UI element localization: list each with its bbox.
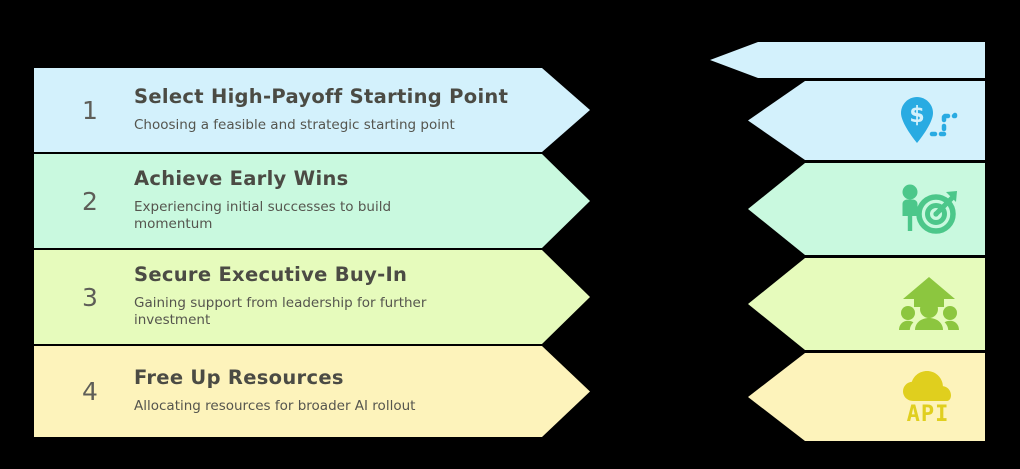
step-4-text: Free Up Resources Allocating resources f… [134,367,590,416]
step-3-text: Secure Executive Buy-In Gaining support … [134,264,590,330]
cloud-api-icon: API [899,371,959,423]
icon-band-1[interactable]: $ [700,81,985,160]
step-4-title: Free Up Resources [134,367,520,389]
step-4-description: Allocating resources for broader AI roll… [134,398,464,416]
top-cap-band [700,42,985,78]
person-target-arrow-icon [897,183,959,235]
step-3-title: Secure Executive Buy-In [134,264,520,286]
icon-band-3[interactable] [700,258,985,350]
step-1-number: 1 [46,98,134,123]
step-1-description: Choosing a feasible and strategic starti… [134,117,464,135]
step-3-number: 3 [46,285,134,310]
step-2-description: Experiencing initial successes to build … [134,199,434,235]
infographic-canvas: 1 Select High-Payoff Starting Point Choo… [0,0,1020,469]
process-step-3[interactable]: 3 Secure Executive Buy-In Gaining suppor… [34,250,590,344]
process-steps-list: 1 Select High-Payoff Starting Point Choo… [34,68,590,439]
process-step-2[interactable]: 2 Achieve Early Wins Experiencing initia… [34,154,590,248]
step-4-number: 4 [46,379,134,404]
step-1-title: Select High-Payoff Starting Point [134,86,520,108]
people-group-up-arrow-icon [899,277,959,331]
step-2-text: Achieve Early Wins Experiencing initial … [134,168,590,234]
step-2-title: Achieve Early Wins [134,168,520,190]
icon-band-2[interactable] [700,163,985,255]
svg-text:$: $ [909,103,924,128]
icon-panel: $ [700,42,985,444]
map-pin-dollar-path-icon: $ [897,95,959,147]
step-2-number: 2 [46,189,134,214]
step-3-description: Gaining support from leadership for furt… [134,295,464,331]
process-step-4[interactable]: 4 Free Up Resources Allocating resources… [34,346,590,437]
step-1-text: Select High-Payoff Starting Point Choosi… [134,86,590,135]
icon-band-4[interactable]: API [700,353,985,441]
cloud-api-label: API [907,402,950,423]
top-cap-shape [700,42,985,78]
process-step-1[interactable]: 1 Select High-Payoff Starting Point Choo… [34,68,590,152]
